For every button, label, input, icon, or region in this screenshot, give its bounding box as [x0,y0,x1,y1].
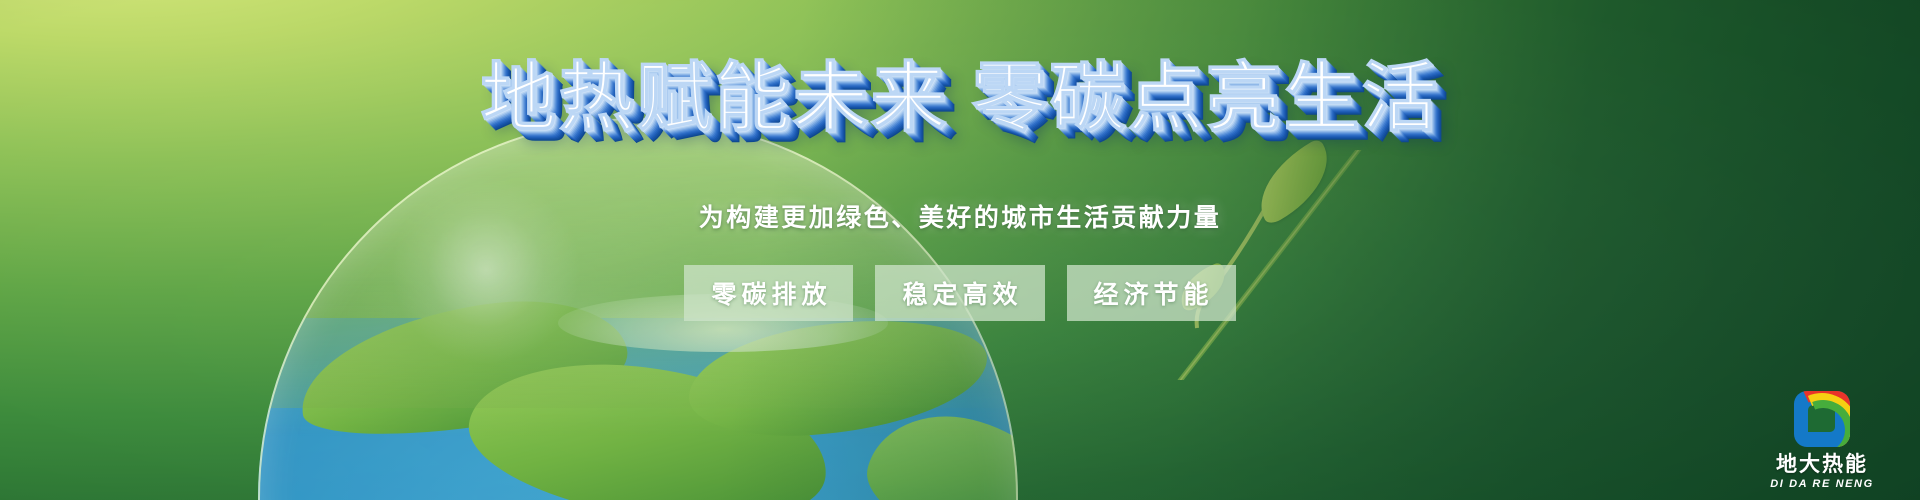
feature-badge-group: 零碳排放 稳定高效 经济节能 [0,265,1920,321]
feature-badge-economic-saving[interactable]: 经济节能 [1067,265,1236,321]
feature-badge-zero-carbon[interactable]: 零碳排放 [684,265,853,321]
didareneng-logo-icon [1794,391,1850,447]
logo-name-pinyin: DI DA RE NENG [1770,478,1874,490]
banner-subtitle: 为构建更加绿色、美好的城市生活贡献力量 [0,198,1920,234]
feature-badge-stable-efficient[interactable]: 稳定高效 [875,265,1044,321]
logo-name-cn: 地大热能 [1776,453,1868,476]
promo-banner: 地热赋能未来 零碳点亮生活 为构建更加绿色、美好的城市生活贡献力量 零碳排放 稳… [0,0,1920,500]
banner-headline: 地热赋能未来 零碳点亮生活 [0,58,1920,140]
company-logo[interactable]: 地大热能 DI DA RE NENG [1760,391,1884,490]
